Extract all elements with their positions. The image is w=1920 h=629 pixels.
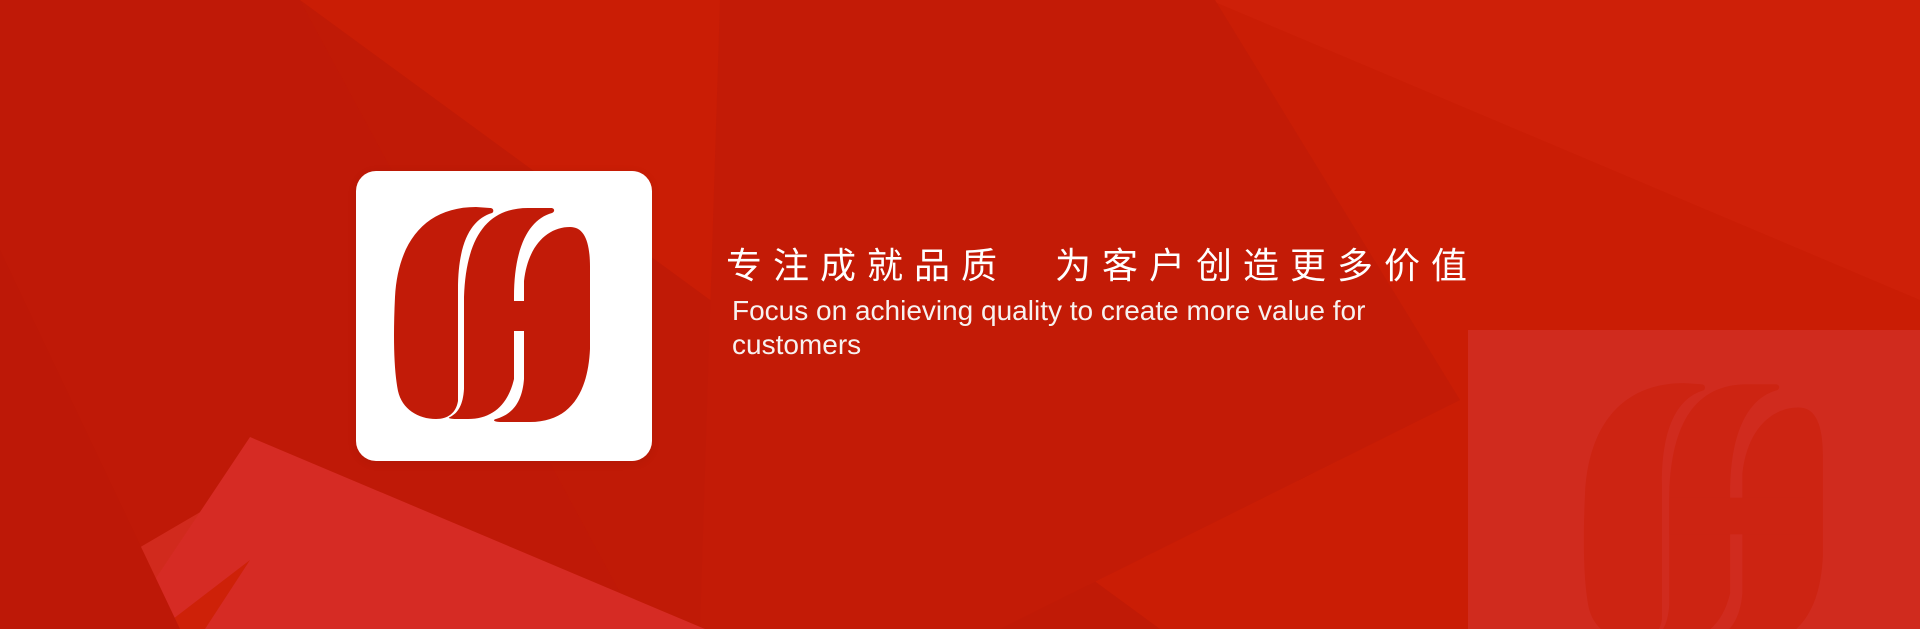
watermark-panel (1468, 330, 1920, 629)
tagline-block: 专注成就品质 为客户创造更多价值 Focus on achieving qual… (726, 244, 1546, 362)
triangle-bottom-left (122, 437, 705, 629)
triangle-bottom-left-outer (0, 483, 640, 629)
tagline-english: Focus on achieving quality to create mor… (726, 294, 1492, 362)
h-monogram-watermark-icon (1508, 366, 1920, 629)
logo-card (356, 171, 652, 461)
tagline-chinese: 专注成就品质 为客户创造更多价值 (726, 244, 1546, 288)
sliver-bottom-left (160, 560, 250, 629)
h-monogram-icon (380, 193, 628, 439)
company-banner: 专注成就品质 为客户创造更多价值 Focus on achieving qual… (0, 0, 1920, 629)
shade-left-lower (0, 250, 180, 629)
